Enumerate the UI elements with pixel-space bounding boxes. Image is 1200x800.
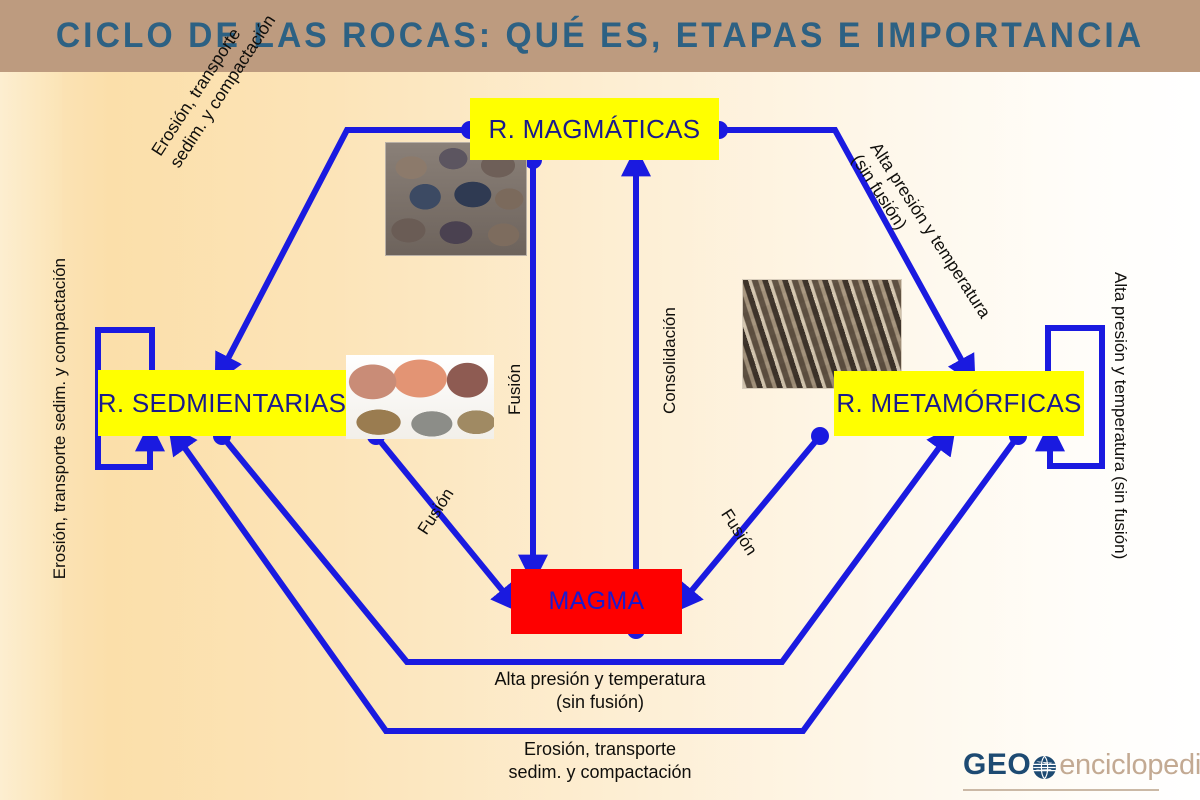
label-bottom-alta-presion: Alta presión y temperatura (sin fusión) [400, 668, 800, 714]
logo-underline [963, 789, 1159, 791]
node-magmaticas[interactable]: R. MAGMÁTICAS [470, 98, 719, 160]
geoenciclopedia-logo[interactable]: GEO enciclopedia [963, 747, 1200, 783]
rock-cycle-diagram: CICLO DE LAS ROCAS: QUÉ ES, ETAPAS E IMP… [0, 0, 1200, 800]
label-left-vertical-erosion: Erosión, transporte sedim. y compactació… [49, 258, 71, 579]
label-consolidacion: Consolidación [659, 307, 681, 414]
label-bottom-alta-presion-line2: (sin fusión) [400, 691, 800, 714]
label-bottom-erosion: Erosión, transporte sedim. y compactació… [400, 738, 800, 784]
sedimentary-rocks-photo [346, 355, 494, 439]
node-sedimentarias[interactable]: R. SEDMIENTARIAS [98, 370, 346, 436]
label-right-vertical-alta-presion: Alta presión y temperatura (sin fusión) [1109, 272, 1131, 559]
label-fusion-center: Fusión [504, 364, 526, 415]
node-metamorficas[interactable]: R. METAMÓRFICAS [834, 371, 1084, 436]
logo-enciclopedia-text: enciclopedia [1059, 749, 1200, 782]
label-bottom-alta-presion-line1: Alta presión y temperatura [400, 668, 800, 691]
node-magma[interactable]: MAGMA [511, 569, 682, 634]
page-title: CICLO DE LAS ROCAS: QUÉ ES, ETAPAS E IMP… [24, 0, 1176, 72]
label-bottom-erosion-line1: Erosión, transporte [400, 738, 800, 761]
logo-geo-text: GEO [963, 748, 1031, 782]
globe-icon [1032, 755, 1057, 780]
label-bottom-erosion-line2: sedim. y compactación [400, 761, 800, 784]
